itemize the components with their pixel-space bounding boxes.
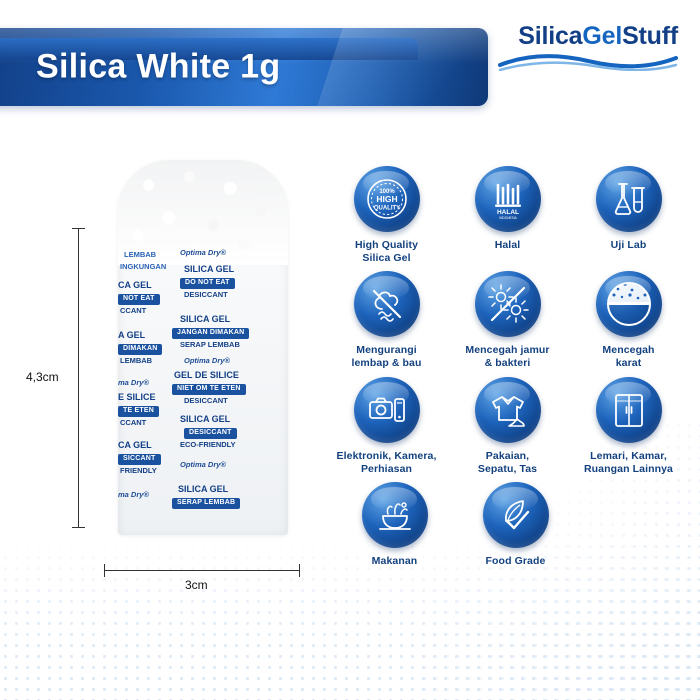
silica-gel-sachet: LEMBAB INGKUNGAN Optima Dry® SILICA GEL … (118, 160, 288, 535)
feature-electronics: Elektronik, Kamera, Perhiasan (326, 377, 447, 476)
packet-line: SERAP LEMBAB (180, 340, 240, 349)
feature-food-grade: Food Grade (455, 482, 576, 568)
feature-grid: 100% HIGH QUALITY High Quality Silica Ge… (326, 166, 690, 574)
packet-line: TE ETEN (118, 405, 159, 417)
feature-row: Elektronik, Kamera, Perhiasan Pakaian, S… (326, 377, 690, 482)
packet-line: ma Dry® (118, 490, 149, 499)
feature-prevent-rust: Mencegah karat (568, 271, 689, 370)
packet-line: DESICCANT (184, 427, 237, 439)
packet-line: Optima Dry® (180, 248, 226, 257)
packet-line: SILICA GEL (184, 264, 234, 275)
food-icon (362, 482, 428, 548)
packet-line: ma Dry® (118, 378, 149, 387)
packet-line: SERAP LEMBAB (172, 497, 240, 509)
packet-line: A GEL (118, 330, 145, 341)
svg-text:INDONESIA: INDONESIA (499, 216, 517, 220)
feature-label: Pakaian, Sepatu, Tas (478, 450, 537, 476)
feature-label: Makanan (372, 555, 418, 568)
packet-line: FRIENDLY (120, 466, 157, 475)
feature-row: 100% HIGH QUALITY High Quality Silica Ge… (326, 166, 690, 271)
quality-badge-icon: 100% HIGH QUALITY (354, 166, 420, 232)
feature-label: Uji Lab (611, 239, 647, 252)
title-banner: Silica White 1g (0, 28, 488, 106)
packet-line: E SILICE (118, 392, 156, 403)
packet-line: SILICA GEL (180, 314, 230, 325)
feature-label: Food Grade (486, 555, 546, 568)
halal-icon: HALAL INDONESIA (475, 166, 541, 232)
packet-line: Optima Dry® (184, 356, 230, 365)
feature-label: High Quality Silica Gel (355, 239, 418, 265)
electronics-camera-jewelry-icon (354, 377, 420, 443)
packet-line: DIMAKAN (118, 343, 162, 355)
brand-part-gel: Gel (582, 22, 622, 50)
height-dimension-line (78, 228, 79, 528)
clothes-shoes-bags-icon (475, 377, 541, 443)
brand-wave-icon (498, 53, 678, 76)
product-image: LEMBAB INGKUNGAN Optima Dry® SILICA GEL … (100, 160, 300, 550)
packet-line: CA GEL (118, 440, 152, 451)
packet-line: NOT EAT (118, 293, 160, 305)
packet-line: GEL DE SILICE (174, 370, 239, 381)
width-dimension-label: 3cm (185, 578, 208, 592)
anti-rust-icon (596, 271, 662, 337)
food-grade-icon (483, 482, 549, 548)
svg-text:QUALITY: QUALITY (373, 206, 399, 212)
feature-label: Mencegah karat (602, 344, 654, 370)
wardrobe-room-icon (596, 377, 662, 443)
packet-line: SILICA GEL (180, 414, 230, 425)
feature-wardrobe-room: Lemari, Kamar, Ruangan Lainnya (568, 377, 689, 476)
packet-line: SICCANT (118, 453, 161, 465)
packet-line: CCANT (120, 306, 146, 315)
no-humidity-odor-icon (354, 271, 420, 337)
feature-clothes: Pakaian, Sepatu, Tas (447, 377, 568, 476)
packet-line: JANGAN DIMAKAN (172, 327, 249, 339)
feature-food: Makanan (334, 482, 455, 568)
packet-line: ECO-FRIENDLY (180, 440, 236, 449)
feature-prevent-fungus-bacteria: Mencegah jamur & bakteri (447, 271, 568, 370)
feature-label: Halal (495, 239, 521, 252)
svg-text:HIGH: HIGH (376, 194, 397, 204)
height-dimension-label: 4,3cm (26, 370, 59, 384)
packet-line: CCANT (120, 418, 146, 427)
lab-test-icon (596, 166, 662, 232)
anti-fungus-bacteria-icon (475, 271, 541, 337)
packet-line: DESICCANT (184, 290, 228, 299)
packet-line: LEMBAB (124, 250, 156, 259)
feature-label: Elektronik, Kamera, Perhiasan (337, 450, 437, 476)
packet-line: SILICA GEL (178, 484, 228, 495)
feature-label: Mengurangi lembap & bau (351, 344, 421, 370)
packet-line: CA GEL (118, 280, 152, 291)
packet-line: Optima Dry® (180, 460, 226, 469)
packet-line: NIET OM TE ETEN (172, 383, 246, 395)
page-title: Silica White 1g (36, 48, 280, 87)
feature-reduce-humidity-odor: Mengurangi lembap & bau (326, 271, 447, 370)
feature-row: Makanan Food Grade (326, 482, 690, 574)
brand-logo: SilicaGelStuff (498, 22, 678, 76)
feature-uji-lab: Uji Lab (568, 166, 689, 265)
packet-line: LEMBAB (120, 356, 152, 365)
brand-part-silica: Silica (518, 22, 582, 50)
feature-label: Mencegah jamur & bakteri (465, 344, 549, 370)
feature-row: Mengurangi lembap & bau Mencegah jamur &… (326, 271, 690, 376)
brand-part-stuff: Stuff (622, 22, 678, 50)
packet-line: INGKUNGAN (120, 262, 166, 271)
width-dimension-line (104, 570, 300, 571)
feature-high-quality: 100% HIGH QUALITY High Quality Silica Ge… (326, 166, 447, 265)
packet-line: DESICCANT (184, 396, 228, 405)
svg-text:HALAL: HALAL (496, 209, 518, 216)
feature-halal: HALAL INDONESIA Halal (447, 166, 568, 265)
sachet-printing: LEMBAB INGKUNGAN Optima Dry® SILICA GEL … (118, 252, 288, 535)
packet-line: DO NOT EAT (180, 277, 235, 289)
brand-logo-text: SilicaGelStuff (498, 22, 678, 51)
feature-label: Lemari, Kamar, Ruangan Lainnya (584, 450, 673, 476)
